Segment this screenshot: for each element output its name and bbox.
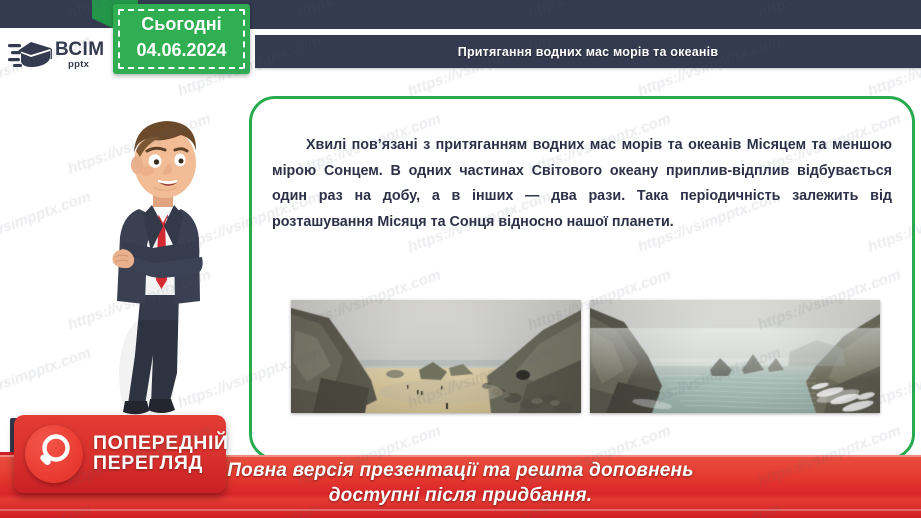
- today-date: 04.06.2024: [113, 40, 250, 61]
- businessman-mascot: [95, 105, 245, 435]
- slide-root: ВСІМ pptx Сьогодні 04.06.2024 Притягання…: [0, 0, 921, 518]
- title-bar-shadow: [255, 68, 921, 71]
- today-label: Сьогодні: [113, 14, 250, 35]
- graduation-cap-icon: [8, 38, 54, 72]
- banner-bottom-divider: [0, 509, 921, 511]
- today-date-badge: Сьогодні 04.06.2024: [113, 4, 250, 74]
- high-tide-cove-photo: [590, 300, 880, 413]
- slide-title-bar: Притягання водних мас морів та океанів: [255, 35, 921, 68]
- logo-sub-text: pptx: [68, 60, 104, 70]
- magnifier-icon: [25, 425, 83, 483]
- preview-badge[interactable]: ПОПЕРЕДНІЙ ПЕРЕГЛЯД: [14, 415, 226, 493]
- brand-logo[interactable]: ВСІМ pptx: [8, 32, 120, 78]
- preview-label-2: ПЕРЕГЛЯД: [93, 454, 229, 474]
- logo-main-text: ВСІМ: [55, 40, 104, 59]
- body-paragraph: Хвилі пов’язані з притяганням водних мас…: [272, 133, 892, 235]
- low-tide-beach-photo: [291, 300, 581, 413]
- page-title: Притягання водних мас морів та океанів: [255, 35, 921, 68]
